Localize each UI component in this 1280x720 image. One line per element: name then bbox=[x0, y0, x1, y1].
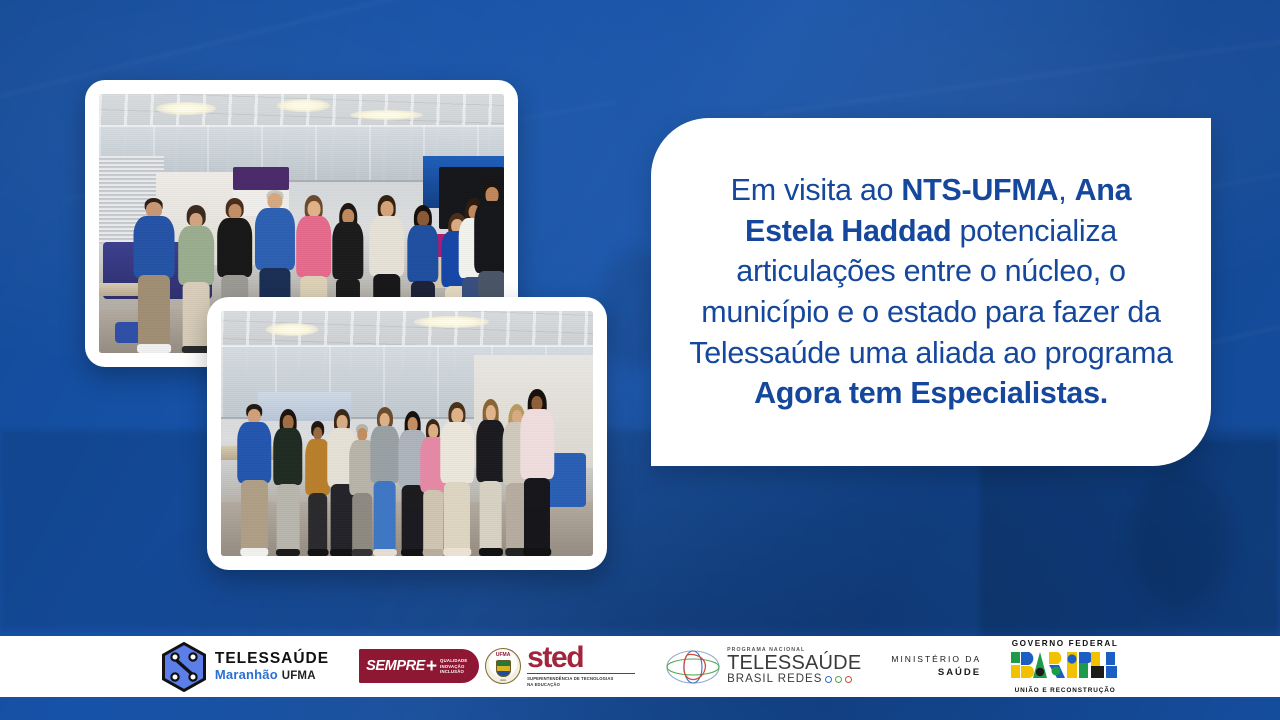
logo-title: TELESSAÚDE bbox=[215, 651, 329, 667]
ufma-seal-ring-text: ●●● bbox=[500, 678, 506, 682]
logo-title: TELESSAÚDE bbox=[727, 653, 861, 673]
logo-subtitle-primary: Maranhão bbox=[215, 667, 278, 682]
redes-dot-icon bbox=[845, 676, 852, 683]
sempre-tagline: QUALIDADE INOVAÇÃO INCLUSÃO bbox=[440, 658, 467, 675]
ceiling-light-icon bbox=[350, 110, 423, 120]
photo1-person bbox=[131, 198, 176, 353]
sted-tag-line: NA EDUCAÇÃO bbox=[527, 682, 560, 687]
ufma-seal-label: UFMA bbox=[496, 652, 510, 658]
governo-bottom-label: UNIÃO E RECONSTRUÇÃO bbox=[1011, 687, 1119, 694]
sempre-plus-icon: + bbox=[426, 657, 437, 676]
headline-seg: , bbox=[1058, 173, 1074, 207]
logo-telessaude-maranhao-ufma: TELESSAÚDE Maranhão UFMA bbox=[161, 642, 329, 692]
poster-canvas: Em visita ao NTS-UFMA, Ana Estela Haddad… bbox=[0, 0, 1280, 720]
headline-seg-bold: Agora tem Especialistas. bbox=[754, 376, 1108, 410]
logo-ministerio-da-saude: MINISTÉRIO DA SAÚDE bbox=[891, 653, 981, 679]
sted-wordmark: sted bbox=[527, 645, 635, 671]
photo2-person bbox=[271, 409, 304, 556]
ceiling-light-icon bbox=[414, 316, 488, 328]
ceiling-light-icon bbox=[277, 99, 330, 112]
footer-logo-bar: TELESSAÚDE Maranhão UFMA SEMPRE + QUALID… bbox=[0, 636, 1280, 697]
logo-sempre-mais-ufma-sted: SEMPRE + QUALIDADE INOVAÇÃO INCLUSÃO UFM… bbox=[359, 645, 635, 688]
sted-divider bbox=[527, 673, 635, 674]
sempre-word: SEMPRE bbox=[366, 658, 425, 674]
sempre-tag-line: QUALIDADE bbox=[440, 658, 467, 663]
group-photo-2 bbox=[221, 311, 593, 556]
photo-frame-secondary bbox=[207, 297, 607, 570]
ministerio-line2: SAÚDE bbox=[891, 666, 981, 680]
logo-governo-federal: GOVERNO FEDERAL bbox=[1011, 639, 1119, 694]
sempre-tag-line: INCLUSÃO bbox=[440, 669, 464, 674]
sted-tagline: SUPERINTENDÊNCIA DE TECNOLOGIAS NA EDUCA… bbox=[527, 676, 635, 688]
photo1-purple-banner bbox=[233, 167, 290, 190]
redes-dot-icon bbox=[835, 676, 842, 683]
sempre-tag-line: INOVAÇÃO bbox=[440, 664, 464, 669]
photo2-person bbox=[439, 402, 476, 556]
headline-seg-bold: NTS-UFMA bbox=[901, 173, 1058, 207]
logo-telessaude-brasil-redes: PROGRAMA NACIONAL TELESSAÚDE BRASIL REDE… bbox=[665, 647, 861, 687]
telessaude-hexagon-icon bbox=[161, 642, 207, 692]
logo-subtitle-secondary: UFMA bbox=[282, 670, 316, 682]
governo-top-label: GOVERNO FEDERAL bbox=[1011, 639, 1119, 648]
headline-seg: Em visita ao bbox=[731, 173, 902, 207]
headline-card: Em visita ao NTS-UFMA, Ana Estela Haddad… bbox=[651, 118, 1211, 466]
sempre-pill: SEMPRE + QUALIDADE INOVAÇÃO INCLUSÃO bbox=[359, 649, 479, 683]
photo2-person bbox=[236, 404, 273, 556]
ministerio-line1: MINISTÉRIO DA bbox=[891, 653, 981, 665]
ufma-crest-icon bbox=[496, 660, 511, 677]
ufma-seal-icon: UFMA ●●● bbox=[485, 648, 521, 684]
background-ghost-figure bbox=[1130, 470, 1230, 610]
ceiling-light-icon bbox=[156, 102, 217, 115]
brasil-wordmark-icon bbox=[1011, 650, 1119, 680]
photo2-person bbox=[519, 389, 556, 556]
sted-tag-line: SUPERINTENDÊNCIA DE TECNOLOGIAS bbox=[527, 676, 613, 681]
brasil-map-globe-icon bbox=[665, 647, 721, 687]
headline-text: Em visita ao NTS-UFMA, Ana Estela Haddad… bbox=[651, 170, 1211, 413]
ceiling-light-icon bbox=[266, 323, 318, 335]
redes-dot-icon bbox=[825, 676, 832, 683]
logo-subtitle: BRASIL REDES bbox=[727, 674, 822, 686]
